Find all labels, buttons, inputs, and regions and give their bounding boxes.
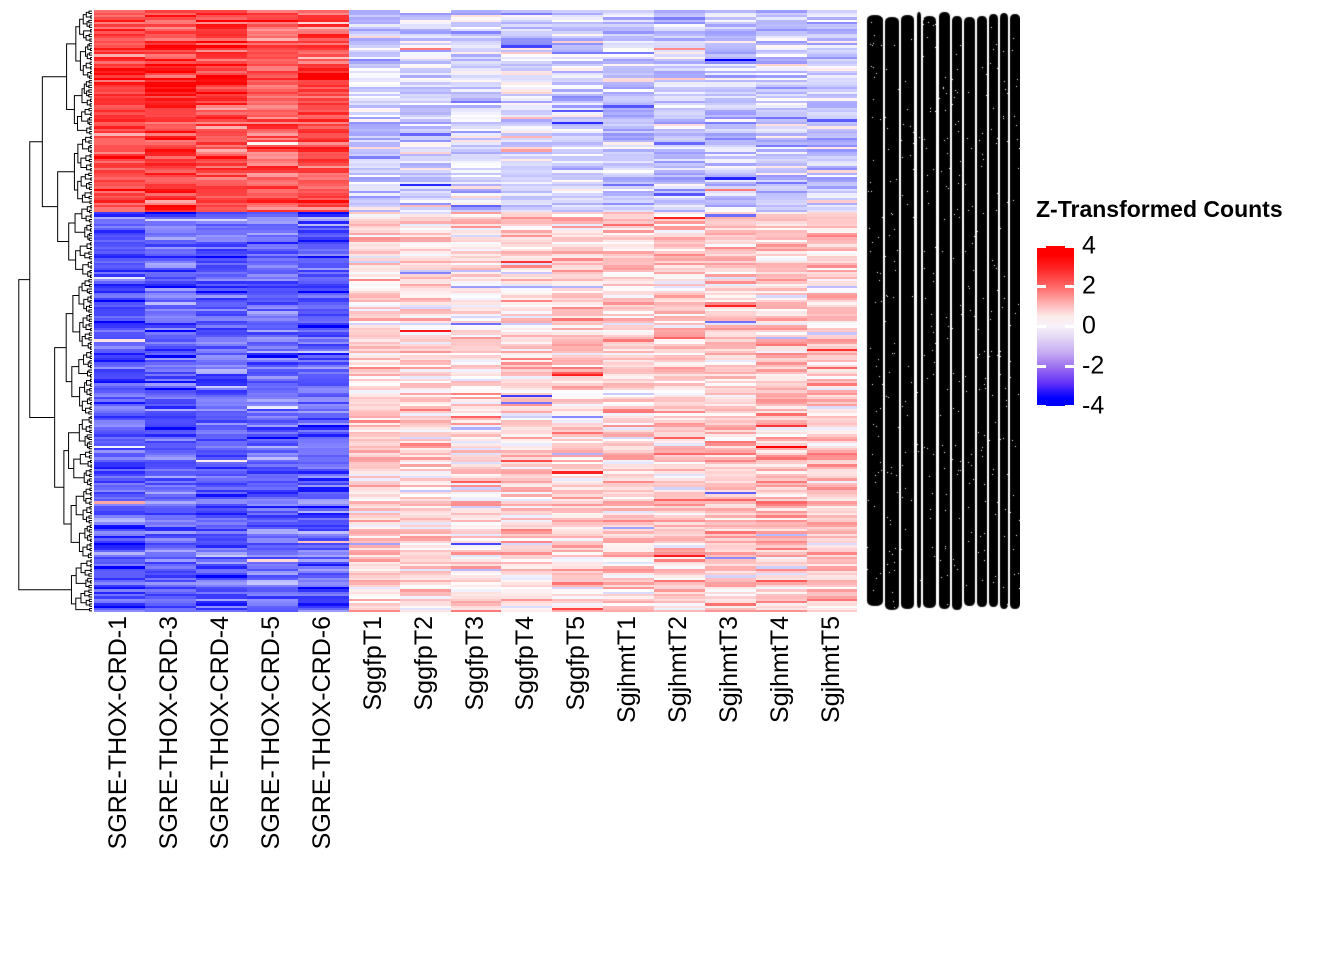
heatmap-figure: SGRE-THOX-CRD-1SGRE-THOX-CRD-3SGRE-THOX-… (0, 0, 1344, 960)
column-label-7: SggfpT3 (463, 616, 488, 711)
column-label-14: SgjhmtT5 (819, 616, 844, 723)
legend-tick-label-1: 2 (1082, 272, 1096, 301)
legend-tick-mark-0-right (1065, 245, 1074, 248)
row-dendrogram (8, 10, 92, 612)
column-labels: SGRE-THOX-CRD-1SGRE-THOX-CRD-3SGRE-THOX-… (94, 616, 857, 946)
legend-tick-mark-3-right (1065, 365, 1074, 368)
legend-tick-label-2: 0 (1082, 312, 1096, 341)
legend-tick-mark-4-left (1037, 405, 1046, 408)
row-dendrogram-svg (8, 10, 92, 612)
legend-tick-mark-3-left (1037, 365, 1046, 368)
column-label-9: SggfpT5 (564, 616, 589, 711)
legend-tick-label-3: -2 (1082, 352, 1104, 381)
column-label-8: SggfpT4 (513, 616, 538, 711)
column-label-5: SggfpT1 (361, 616, 386, 711)
column-label-6: SggfpT2 (412, 616, 437, 711)
column-label-10: SgjhmtT1 (615, 616, 640, 723)
colorbar-legend: Z-Transformed Counts 420-2-4 (1032, 196, 1332, 426)
legend-tick-mark-2-right (1065, 325, 1074, 328)
row-labels-block (865, 10, 1020, 612)
legend-tick-label-0: 4 (1082, 232, 1096, 261)
legend-title: Z-Transformed Counts (1036, 196, 1283, 223)
column-label-12: SgjhmtT3 (717, 616, 742, 723)
legend-tick-label-4: -4 (1082, 392, 1104, 421)
column-label-0: SGRE-THOX-CRD-1 (106, 616, 131, 849)
dendrogram-branches (19, 11, 92, 611)
column-label-13: SgjhmtT4 (768, 616, 793, 723)
legend-tick-mark-1-right (1065, 285, 1074, 288)
column-label-2: SGRE-THOX-CRD-4 (208, 616, 233, 849)
legend-tick-mark-1-left (1037, 285, 1046, 288)
legend-tick-mark-2-left (1037, 325, 1046, 328)
column-label-4: SGRE-THOX-CRD-6 (310, 616, 335, 849)
heatmap-body (94, 10, 857, 612)
heatmap-cells (94, 10, 857, 612)
column-label-1: SGRE-THOX-CRD-3 (157, 616, 182, 849)
column-label-11: SgjhmtT2 (666, 616, 691, 723)
row-label-text-mass (865, 10, 1020, 612)
legend-tick-mark-0-left (1037, 245, 1046, 248)
column-label-3: SGRE-THOX-CRD-5 (259, 616, 284, 849)
legend-tick-mark-4-right (1065, 405, 1074, 408)
